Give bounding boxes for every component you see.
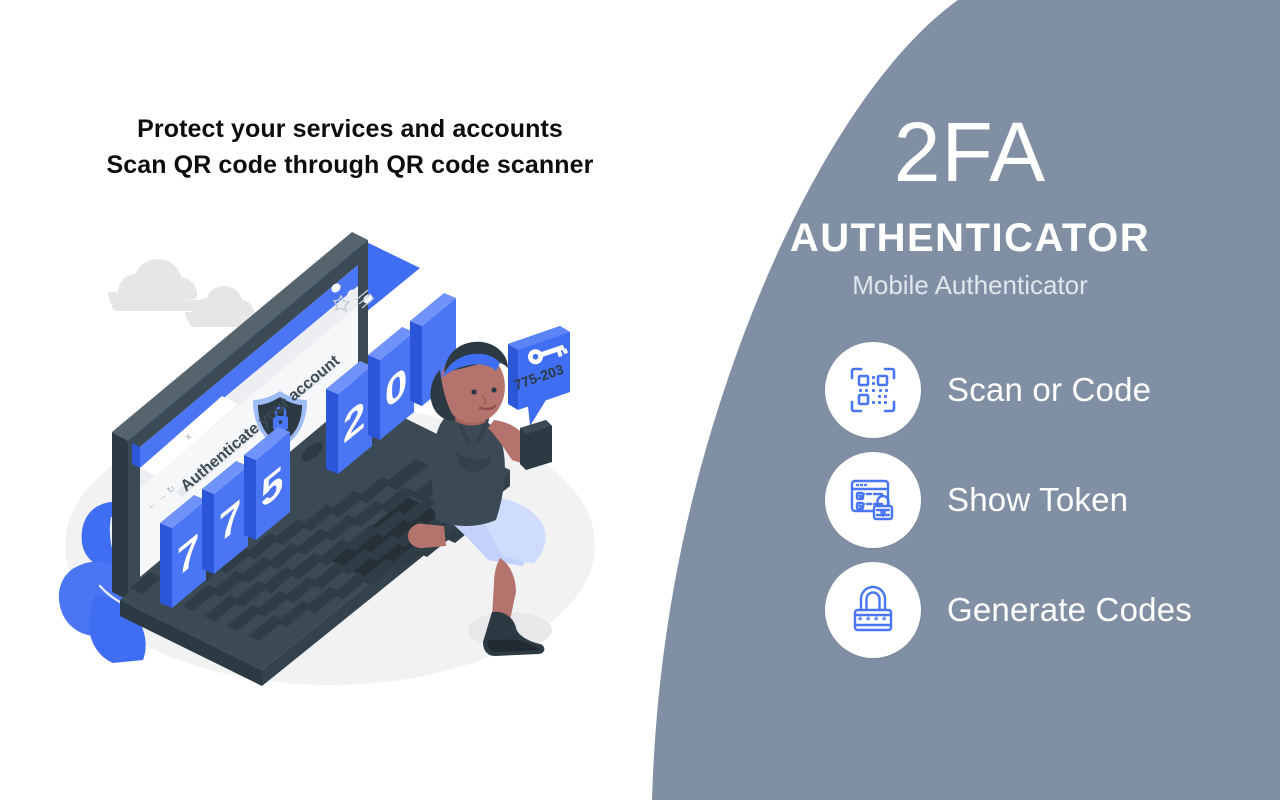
feature-list: Scan or Code [825,335,1280,665]
feature-item-show-token[interactable]: Show Token [825,445,1280,555]
padlock-asterisks-icon: * * * * [848,585,898,635]
svg-text:*: * [882,615,887,627]
feature-label: Show Token [947,481,1128,519]
brand-tagline: Mobile Authenticator [660,272,1280,298]
feature-item-generate-codes[interactable]: * * * * Generate Codes [825,555,1280,665]
feature-item-scan-or-code[interactable]: Scan or Code [825,335,1280,445]
browser-lock-icon [848,475,898,525]
smartphone [520,420,552,470]
feature-badge: * * * * [825,562,921,658]
brand-title: 2FA [660,110,1280,194]
feature-badge [825,342,921,438]
headline-line-2: Scan QR code through QR code scanner [0,148,700,184]
feature-label: Scan or Code [947,371,1151,409]
qr-code-icon [848,365,898,415]
svg-text:*: * [858,615,863,627]
svg-text:*: * [866,615,871,627]
poster-canvas: x ← → ↻ Authenticate your account [0,0,1280,800]
cloud-icon [108,259,204,311]
feature-badge [825,452,921,548]
svg-text:*: * [874,615,879,627]
speech-bubble-code: 775-203 [508,326,570,426]
headline-line-1: Protect your services and accounts [0,112,700,148]
headline: Protect your services and accounts Scan … [0,112,700,183]
feature-label: Generate Codes [947,591,1192,629]
brand-subtitle: AUTHENTICATOR [660,218,1280,258]
